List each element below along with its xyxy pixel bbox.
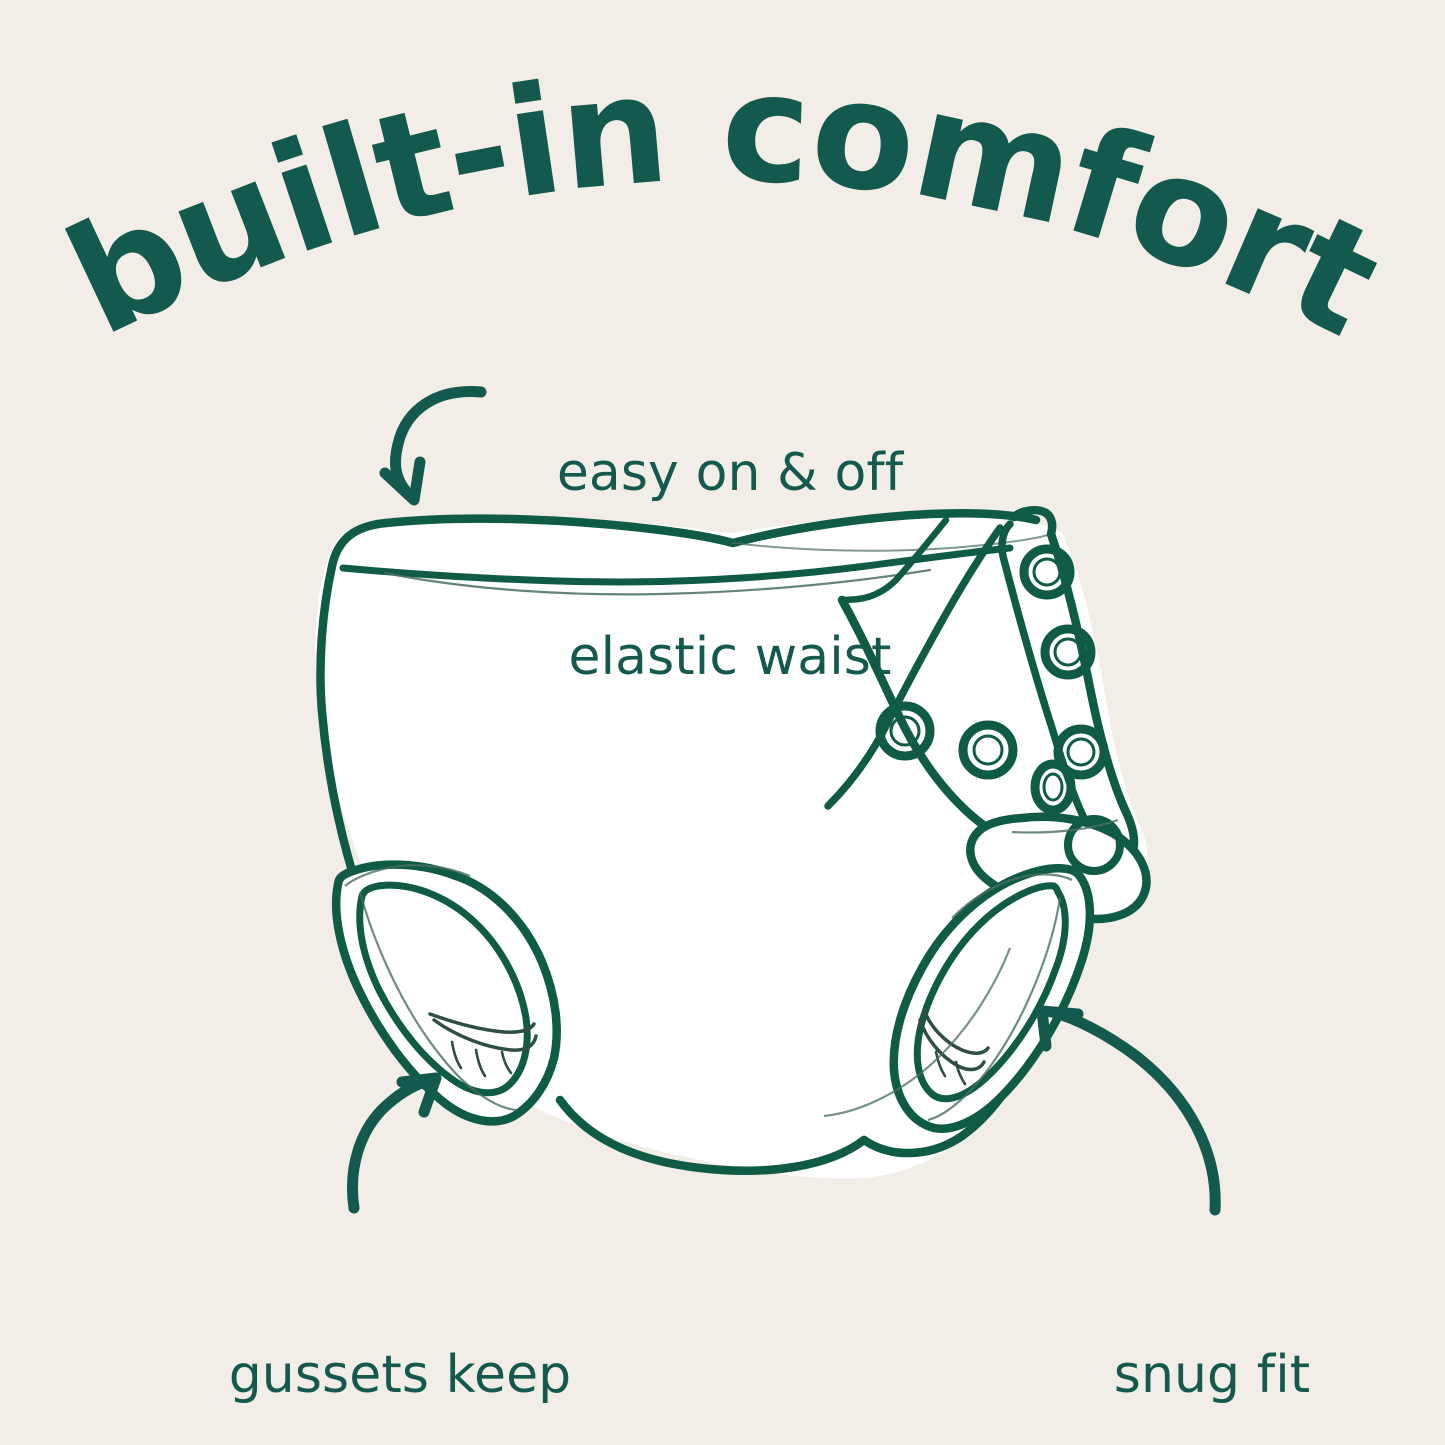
seams-callout-arrowhead	[1042, 1011, 1078, 1046]
callout-gussets: gussets keep messes in check	[60, 1222, 740, 1445]
callout-snug-fit-seams-line1: snug fit	[1012, 1345, 1412, 1406]
callout-elastic-waist: easy on & off elastic waist	[470, 320, 990, 811]
gussets-callout-arrow	[352, 1079, 434, 1208]
callout-gussets-line1: gussets keep	[60, 1345, 740, 1406]
infographic-canvas: built-in comfort	[0, 0, 1445, 1445]
seams-callout-arrow	[1052, 1012, 1215, 1210]
callout-snug-fit-seams: snug fit seams	[1012, 1222, 1412, 1445]
callout-elastic-waist-line2: elastic waist	[470, 627, 990, 688]
waist-callout-arrow	[395, 392, 481, 496]
callout-elastic-waist-line1: easy on & off	[470, 443, 990, 504]
